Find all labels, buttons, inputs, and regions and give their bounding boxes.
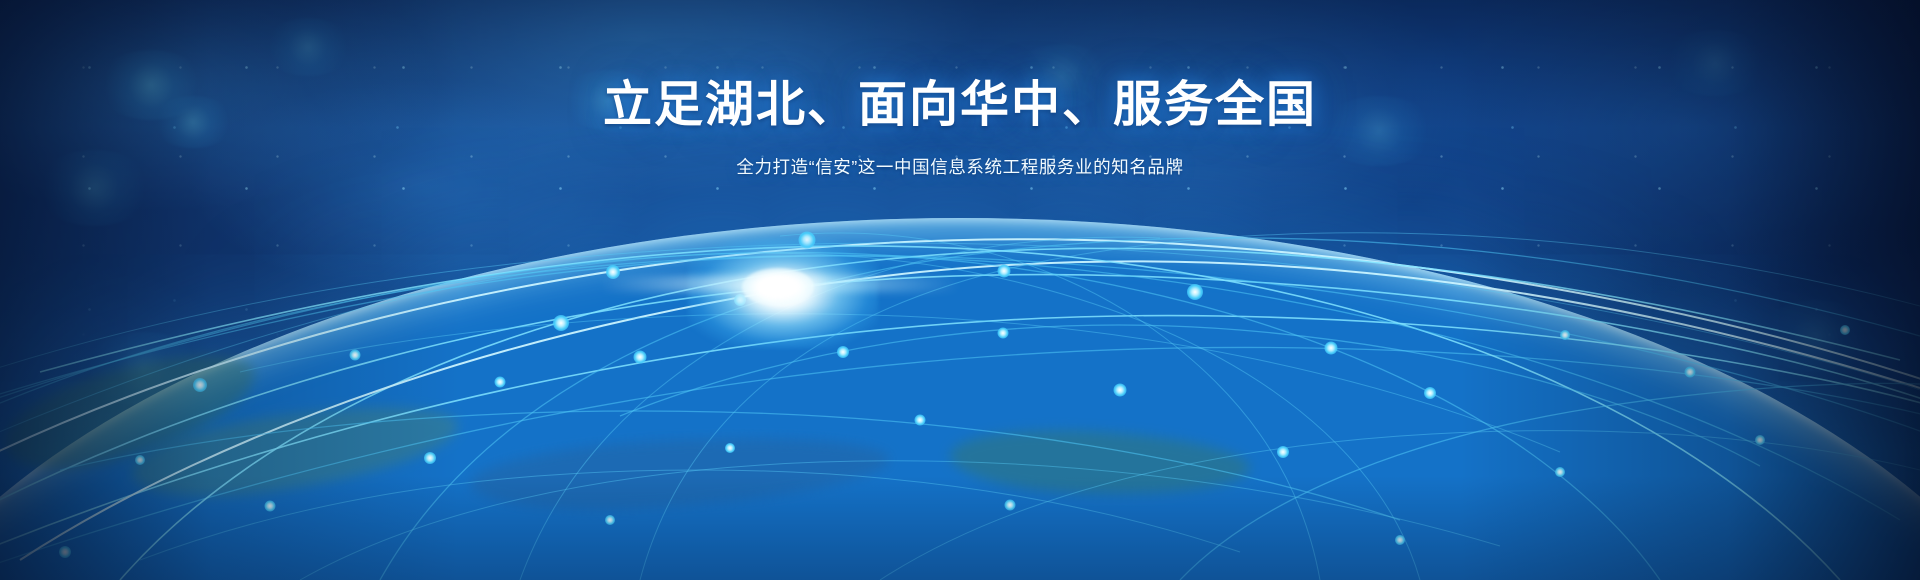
page-title: 立足湖北、面向华中、服务全国: [0, 78, 1920, 133]
banner-copy: 立足湖北、面向华中、服务全国 全力打造“信安”这一中国信息系统工程服务业的知名品…: [0, 78, 1920, 179]
hero-banner: 立足湖北、面向华中、服务全国 全力打造“信安”这一中国信息系统工程服务业的知名品…: [0, 0, 1920, 580]
globe-light-burst-core: [742, 268, 814, 306]
page-subtitle: 全力打造“信安”这一中国信息系统工程服务业的知名品牌: [0, 155, 1920, 180]
